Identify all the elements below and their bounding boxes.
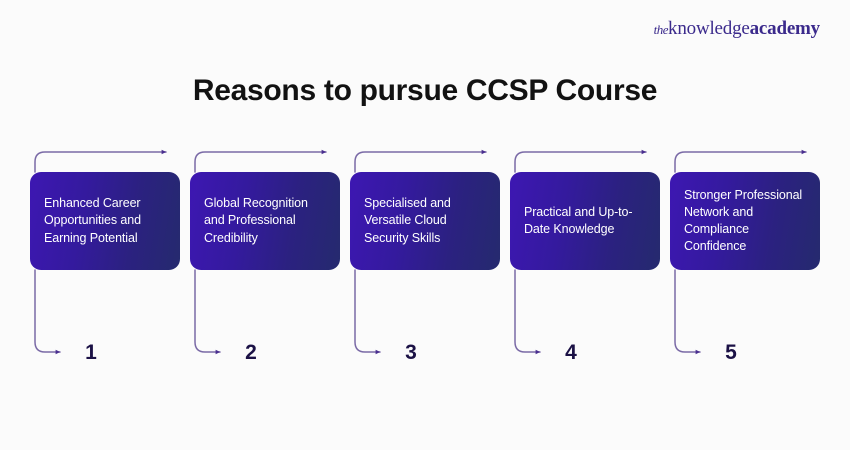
step-number-text: 5 xyxy=(725,341,737,365)
reason-card: Specialised and Versatile Cloud Security… xyxy=(350,172,500,270)
step-number-badge: 1 xyxy=(68,330,114,376)
reason-card-text: Enhanced Career Opportunities and Earnin… xyxy=(44,195,166,247)
logo-academy-text: academy xyxy=(750,18,820,39)
bottom-connector xyxy=(195,270,220,352)
brand-logo: theknowledgeacademy xyxy=(654,18,820,40)
reason-card-text: Stronger Professional Network and Compli… xyxy=(684,187,806,256)
top-connector xyxy=(35,152,166,172)
top-connector xyxy=(195,152,326,172)
reason-card: Practical and Up-to-Date Knowledge xyxy=(510,172,660,270)
step-number-badge: 4 xyxy=(548,330,594,376)
bottom-connector xyxy=(355,270,380,352)
reason-card-text: Global Recognition and Professional Cred… xyxy=(204,195,326,247)
infographic-canvas: theknowledgeacademy Reasons to pursue CC… xyxy=(0,0,850,450)
top-connector xyxy=(675,152,806,172)
logo-knowledge-text: knowledge xyxy=(668,18,750,39)
step-number-badge: 2 xyxy=(228,330,274,376)
top-connector xyxy=(515,152,646,172)
reason-card: Global Recognition and Professional Cred… xyxy=(190,172,340,270)
step-number-text: 4 xyxy=(565,341,577,365)
step-number-badge: 3 xyxy=(388,330,434,376)
reason-card-text: Practical and Up-to-Date Knowledge xyxy=(524,204,646,239)
step-number-text: 1 xyxy=(85,341,97,365)
step-number-badge: 5 xyxy=(708,330,754,376)
reason-card: Stronger Professional Network and Compli… xyxy=(670,172,820,270)
step-number-text: 3 xyxy=(405,341,417,365)
bottom-connector xyxy=(35,270,60,352)
step-number-text: 2 xyxy=(245,341,257,365)
page-title: Reasons to pursue CCSP Course xyxy=(0,74,850,108)
reason-card-text: Specialised and Versatile Cloud Security… xyxy=(364,195,486,247)
top-connector xyxy=(355,152,486,172)
logo-the-text: the xyxy=(654,22,668,37)
bottom-connector xyxy=(515,270,540,352)
bottom-connector xyxy=(675,270,700,352)
reason-card: Enhanced Career Opportunities and Earnin… xyxy=(30,172,180,270)
